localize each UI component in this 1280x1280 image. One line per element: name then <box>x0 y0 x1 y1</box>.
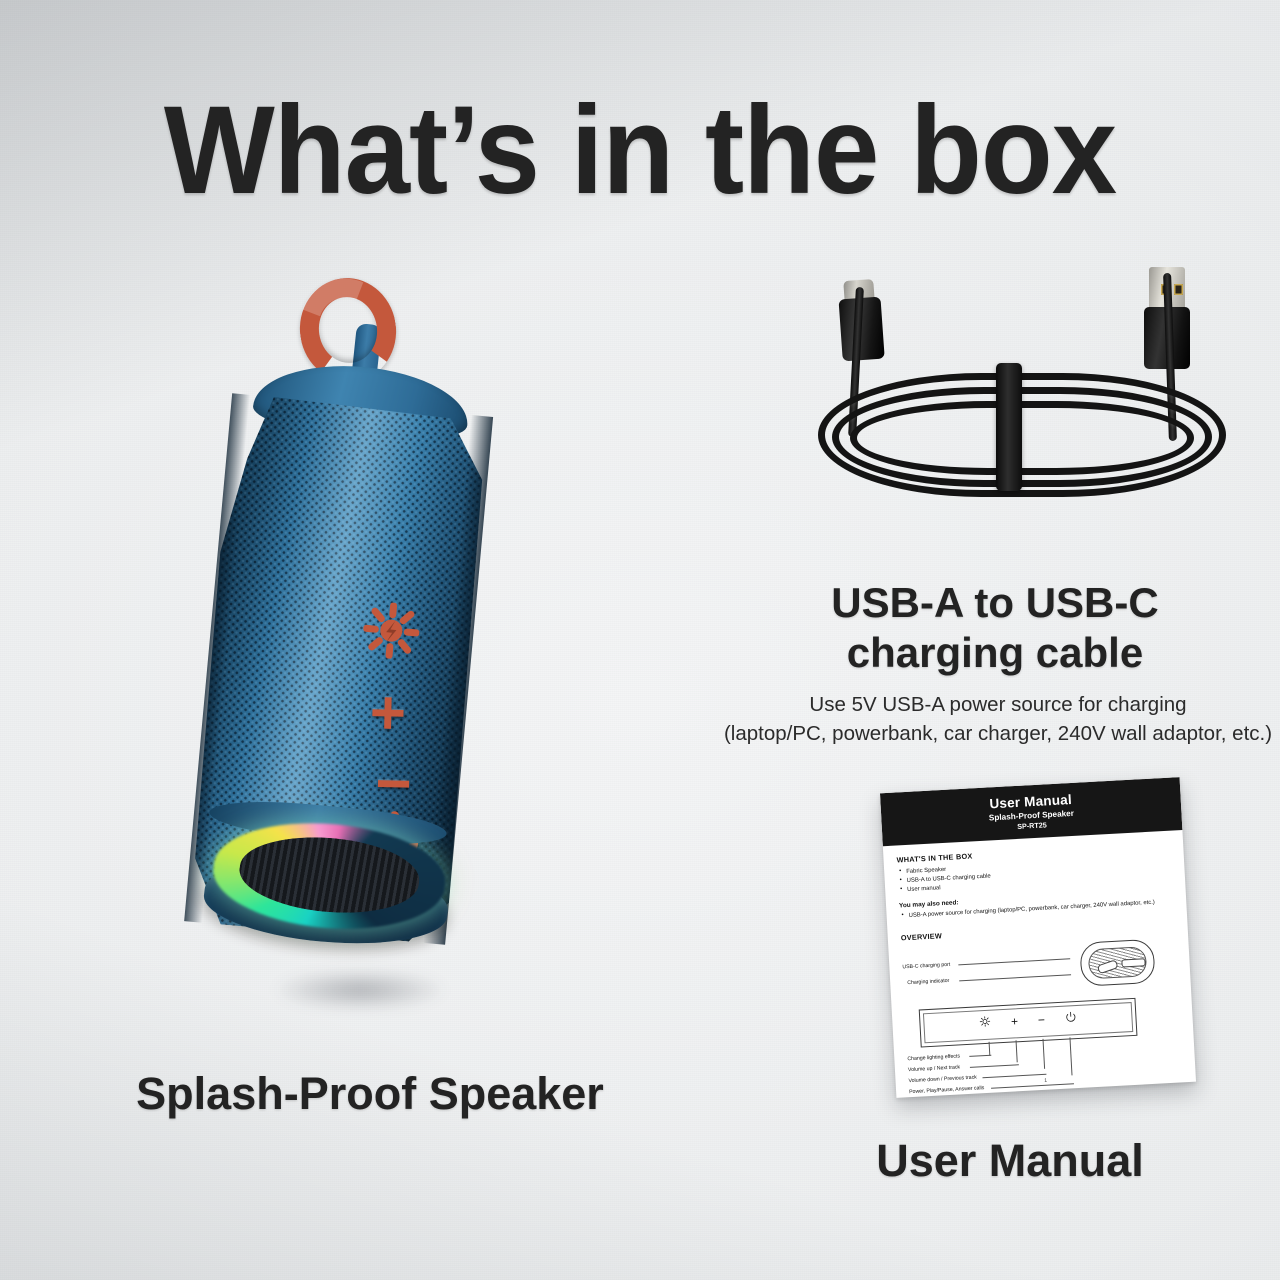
diagram-leader-line <box>959 974 1071 981</box>
lighting-effects-button[interactable] <box>361 600 422 661</box>
user-manual-image: User Manual Splash-Proof Speaker SP-RT25… <box>880 777 1196 1098</box>
volume-down-button[interactable]: − <box>375 753 413 816</box>
diagram-tick <box>1069 1038 1072 1076</box>
diagram-label-usbc-port: USB-C charging port <box>902 962 950 971</box>
cable-strand <box>850 401 1194 475</box>
manual-caption: User Manual <box>790 1135 1230 1187</box>
speaker-caption: Splash-Proof Speaker <box>20 1068 720 1120</box>
product-contents-poster: What’s in the box <box>0 0 1280 1280</box>
diagram-control-bar: + − <box>919 998 1138 1048</box>
diagram-power-icon <box>1065 1011 1077 1026</box>
diagram-speaker-endcap <box>1079 939 1155 987</box>
diagram-label-volume-up: Volume up / Next track <box>908 1065 960 1074</box>
manual-body: WHAT'S IN THE BOX Fabric Speaker USB-A t… <box>883 830 1196 1098</box>
cable-note-line2: (laptop/PC, powerbank, car charger, 240V… <box>720 719 1276 748</box>
cable-note-line1: Use 5V USB-A power source for charging <box>720 690 1276 719</box>
page-title: What’s in the box <box>38 88 1241 213</box>
cable-velcro-strap <box>996 363 1022 491</box>
speaker-rgb-base <box>206 808 452 948</box>
volume-up-button[interactable]: + <box>369 682 407 745</box>
usb-a-contact-pad <box>1174 284 1183 295</box>
diagram-label-charging-indicator: Charging indicator <box>907 978 949 986</box>
diagram-charging-indicator <box>1121 958 1145 967</box>
cable-caption-line1: USB-A to USB-C <box>735 578 1255 628</box>
diagram-volume-down-icon: − <box>1038 1013 1046 1027</box>
cable-caption: USB-A to USB-C charging cable <box>735 578 1255 677</box>
diagram-volume-up-icon: + <box>1011 1014 1019 1028</box>
diagram-leader-line <box>958 958 1070 965</box>
diagram-label-lighting: Change lighting effects <box>907 1054 960 1063</box>
speaker-product-image: + − <box>195 270 555 1050</box>
diagram-tick <box>1016 1040 1018 1062</box>
diagram-lighting-icon <box>980 1016 992 1031</box>
cable-caption-line2: charging cable <box>735 628 1255 678</box>
cable-note: Use 5V USB-A power source for charging (… <box>720 690 1276 748</box>
diagram-leader-line <box>969 1055 991 1057</box>
charging-cable-image <box>800 255 1230 555</box>
diagram-leader-line <box>970 1064 1019 1068</box>
diagram-tick <box>989 1042 991 1056</box>
cable-coil <box>800 345 1230 525</box>
diagram-tick <box>1042 1039 1045 1069</box>
